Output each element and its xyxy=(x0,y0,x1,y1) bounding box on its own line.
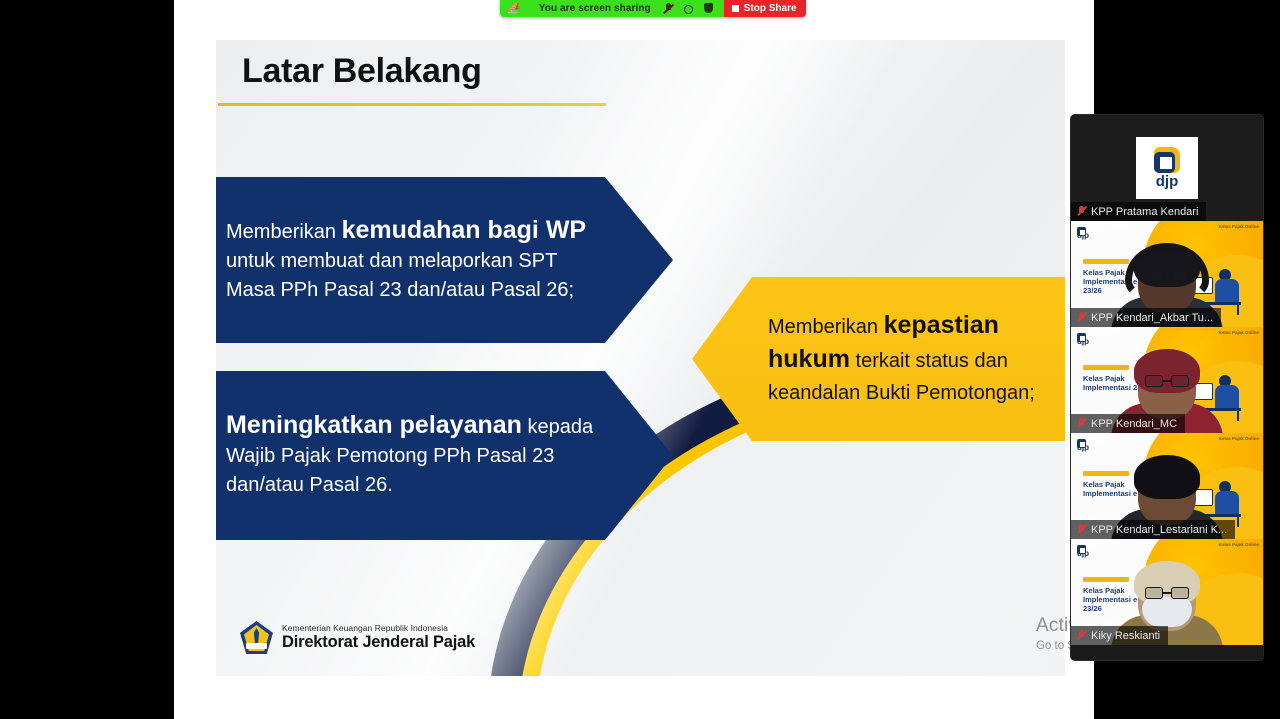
slide-footer-logo: Kementerian Keuangan Republik Indonesia … xyxy=(240,621,475,654)
block-kepastian-text: Memberikan kepastian hukum terkait statu… xyxy=(692,309,1065,409)
block-kemudahan-text: Memberikan kemudahan bagi WP untuk membu… xyxy=(216,216,673,305)
video-icon[interactable] xyxy=(683,3,694,14)
stop-square-icon xyxy=(732,5,739,12)
share-toolbar-icons[interactable] xyxy=(663,3,724,14)
stop-share-button[interactable]: Stop Share xyxy=(724,0,806,17)
block-kemudahan-lead: Memberikan xyxy=(226,221,342,243)
block-kemudahan: Memberikan kemudahan bagi WP untuk membu… xyxy=(216,177,673,343)
ministry-line: Kementerian Keuangan Republik Indonesia xyxy=(282,623,475,633)
mic-muted-icon[interactable] xyxy=(663,3,674,14)
share-status-label: You are screen sharing xyxy=(529,3,663,14)
tile-namebar-akbar: KPP Kendari_Akbar Tu... xyxy=(1071,308,1221,327)
block-kepastian-lead: Memberikan xyxy=(768,316,884,338)
video-tile-mc[interactable]: Kelas Pajak Online djp Kelas Pajak Imple… xyxy=(1071,327,1263,433)
mic-muted-icon xyxy=(1077,524,1086,536)
security-shield-icon[interactable] xyxy=(703,3,714,14)
video-tile-kiky[interactable]: Kelas Pajak Online djp Kelas Pajak Imple… xyxy=(1071,539,1263,645)
directorate-line: Direktorat Jenderal Pajak xyxy=(282,633,475,652)
face-mask xyxy=(1142,597,1192,627)
mic-muted-icon xyxy=(1077,206,1086,218)
tile-namebar-kiky: Kiky Reskianti xyxy=(1071,626,1168,645)
screen-root: ⛵ You are screen sharing Stop Share Lata… xyxy=(0,0,1280,719)
participant-name: KPP Kendari_Akbar Tu... xyxy=(1091,312,1213,324)
mic-muted-icon xyxy=(1077,630,1086,642)
participant-name: KPP Kendari_Lestariani K... xyxy=(1091,524,1227,536)
screen-share-toolbar: ⛵ You are screen sharing Stop Share xyxy=(500,0,806,17)
stop-share-label: Stop Share xyxy=(744,3,797,14)
letterbox-left xyxy=(0,0,174,719)
block-kepastian: Memberikan kepastian hukum terkait statu… xyxy=(692,277,1065,441)
title-underline xyxy=(218,103,606,106)
participant-name: Kiky Reskianti xyxy=(1091,630,1160,642)
tile-namebar-lestariani: KPP Kendari_Lestariani K... xyxy=(1071,520,1235,539)
participant-name: KPP Pratama Kendari xyxy=(1091,206,1198,218)
djp-wordmark: djp xyxy=(1156,174,1179,189)
djp-crest-logo xyxy=(240,621,273,654)
video-tile-akbar[interactable]: Kelas Pajak Online djp Kelas Pajak Imple… xyxy=(1071,221,1263,327)
djp-logo-card: djp xyxy=(1136,137,1198,199)
shared-slide: Latar Belakang Memberikan kemudahan bagi… xyxy=(216,40,1065,676)
mic-muted-icon xyxy=(1077,312,1086,324)
block-pelayanan: Meningkatkan pelayanan kepada Wajib Paja… xyxy=(216,371,673,540)
participant-filmstrip[interactable]: djp KPP Pratama Kendari Kelas Pajak Onli… xyxy=(1071,115,1263,660)
mic-muted-icon xyxy=(1077,418,1086,430)
tile-namebar-host: KPP Pratama Kendari xyxy=(1071,202,1206,221)
djp-mark-icon xyxy=(1154,147,1180,173)
block-kemudahan-emphasis: kemudahan bagi WP xyxy=(342,216,586,244)
participant-name: KPP Kendari_MC xyxy=(1091,418,1177,430)
video-tile-lestariani[interactable]: Kelas Pajak Online djp Kelas Pajak Imple… xyxy=(1071,433,1263,539)
zoom-icon: ⛵ xyxy=(500,3,529,14)
block-pelayanan-emphasis: Meningkatkan pelayanan xyxy=(226,411,522,439)
tile-namebar-mc: KPP Kendari_MC xyxy=(1071,414,1185,433)
video-tile-host[interactable]: djp KPP Pratama Kendari xyxy=(1071,115,1263,221)
block-pelayanan-text: Meningkatkan pelayanan kepada Wajib Paja… xyxy=(216,411,673,500)
slide-title: Latar Belakang xyxy=(242,52,482,91)
block-kemudahan-tail: untuk membuat dan melaporkan SPT Masa PP… xyxy=(226,250,574,301)
